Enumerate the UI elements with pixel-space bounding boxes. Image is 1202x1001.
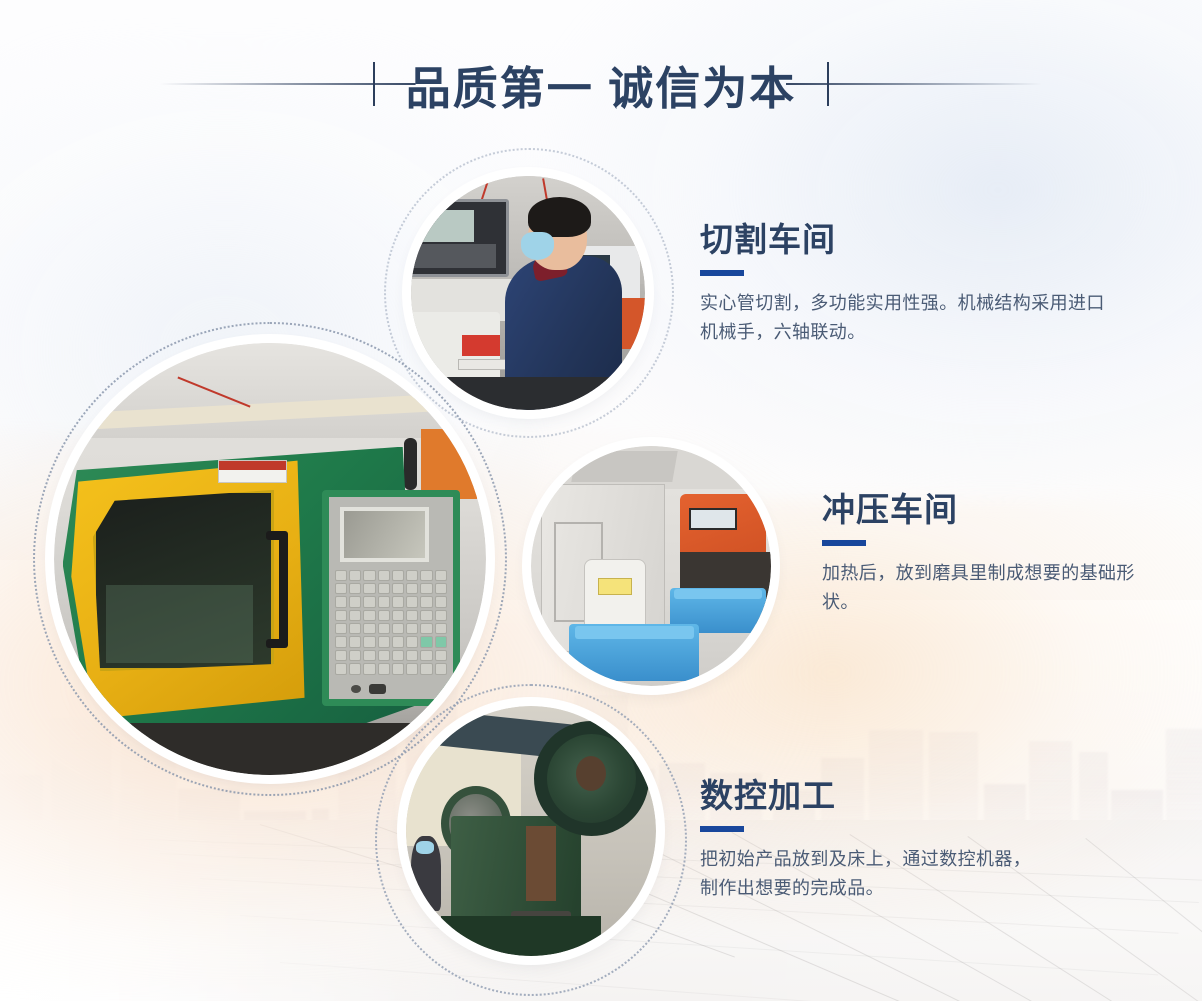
section-photo-cutting-inner: 40 (411, 176, 645, 410)
punch-press-illustration (406, 706, 656, 956)
section-heading-stamping: 冲压车间 (822, 492, 1152, 528)
section-photo-stamping (531, 446, 771, 686)
section-body-cutting: 实心管切割，多功能实用性强。机械结构采用进口机械手，六轴联动。 (700, 289, 1120, 347)
section-heading-cutting: 切割车间 (700, 222, 1120, 258)
stamping-workshop-illustration (531, 446, 771, 686)
section-heading-cnc-machining: 数控加工 (700, 778, 1045, 814)
section-accent-bar-stamping (822, 540, 866, 546)
section-body-cnc-machining: 把初始产品放到及床上，通过数控机器，制作出想要的完成品。 (700, 845, 1045, 903)
section-photo-cutting: 40 (411, 176, 645, 410)
section-text-cutting: 切割车间 实心管切割，多功能实用性强。机械结构采用进口机械手，六轴联动。 (700, 222, 1120, 348)
header-rule-right (786, 83, 1042, 85)
section-accent-bar-cutting (700, 270, 744, 276)
section-body-stamping: 加热后，放到磨具里制成想要的基础形状。 (822, 559, 1152, 617)
section-photo-stamping-inner (531, 446, 771, 686)
section-text-stamping: 冲压车间 加热后，放到磨具里制成想要的基础形状。 (822, 492, 1152, 618)
section-accent-bar-cnc-machining (700, 826, 744, 832)
page-stage: 品质第一 诚信为本 (0, 0, 1202, 1001)
cnc-lathe-operator-illustration: 40 (411, 176, 645, 410)
section-text-cnc-machining: 数控加工 把初始产品放到及床上，通过数控机器，制作出想要的完成品。 (700, 778, 1045, 904)
section-photo-cnc-machining (406, 706, 656, 956)
section-photo-cnc-machining-inner (406, 706, 656, 956)
page-header: 品质第一 诚信为本 (0, 52, 1202, 116)
